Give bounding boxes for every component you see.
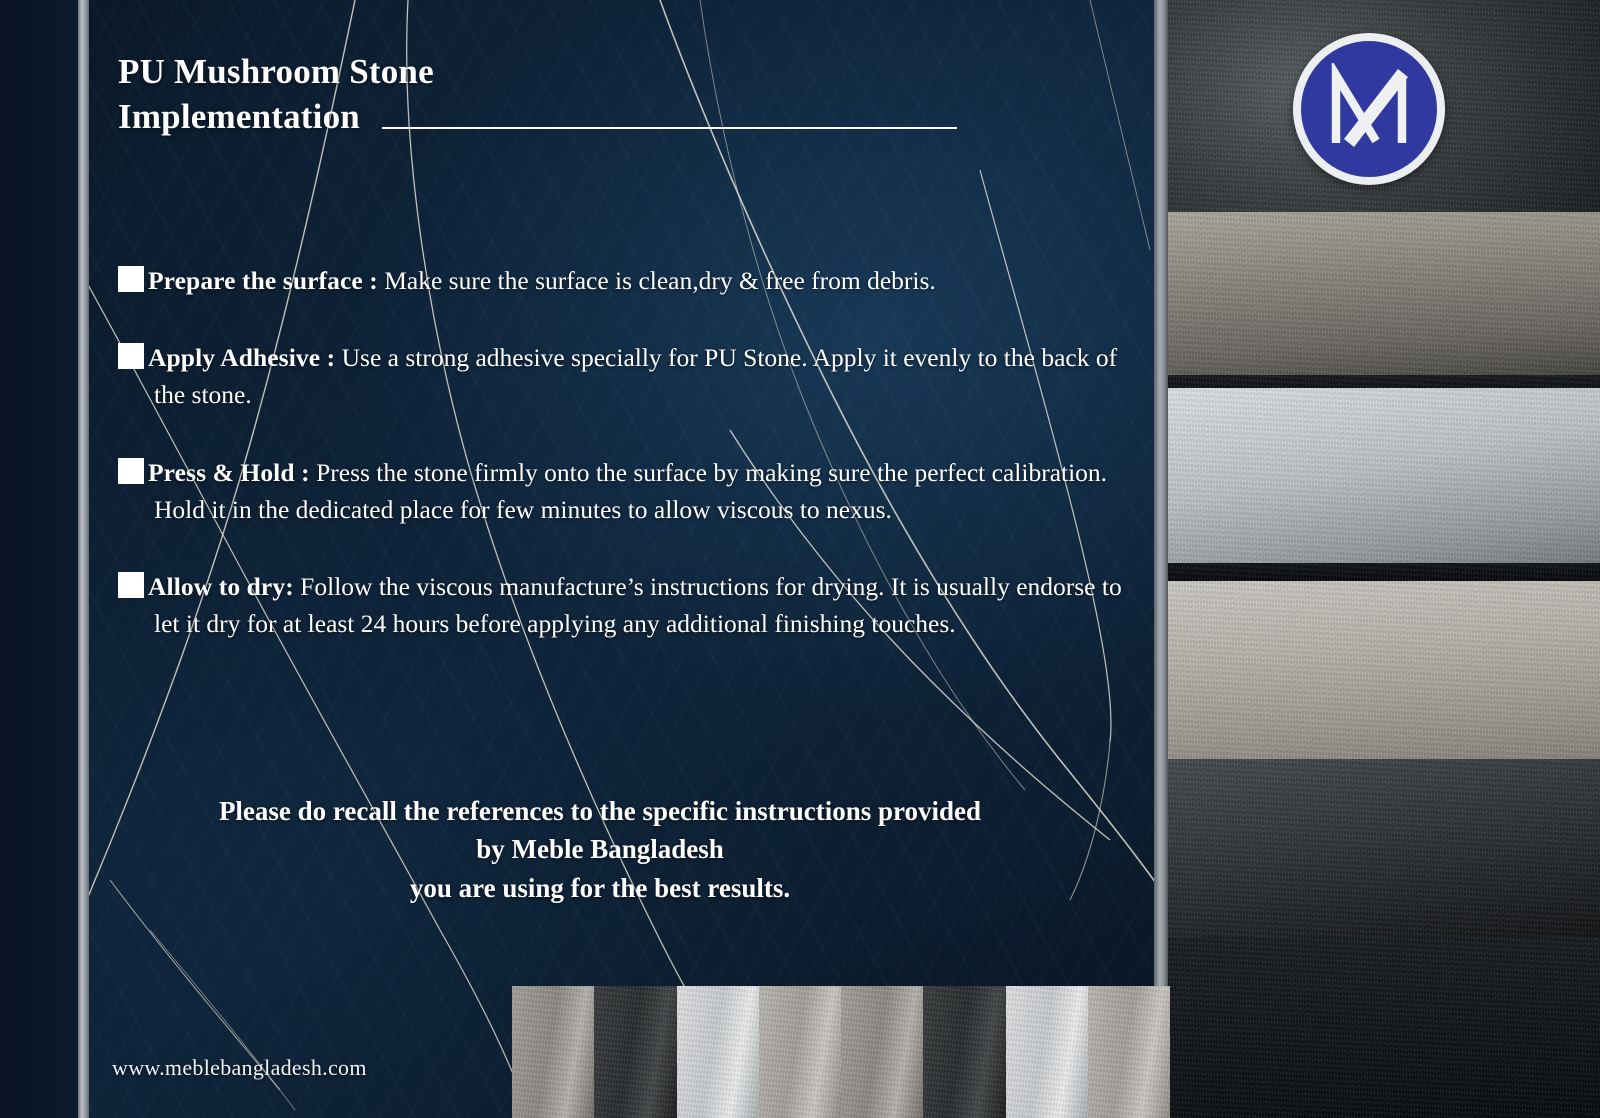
- sample-tile: [677, 986, 759, 1118]
- texture-panel-cream-stone: [1168, 581, 1600, 759]
- sample-tile: [594, 986, 676, 1118]
- bullet-square-icon: [118, 266, 144, 292]
- step-body: Follow the viscous manufacture’s instruc…: [154, 572, 1122, 638]
- stone-sample-tile-strip: [512, 986, 1170, 1118]
- website-url[interactable]: www.meblebangladesh.com: [112, 1055, 367, 1081]
- sample-tile: [1088, 986, 1170, 1118]
- title-line-2-row: Implementation: [118, 95, 1058, 140]
- brand-logo-icon[interactable]: [1293, 33, 1445, 185]
- sample-tile: [923, 986, 1005, 1118]
- title-line-1: PU Mushroom Stone: [118, 50, 1058, 95]
- title-underline-rule: [382, 127, 957, 129]
- texture-panel-charcoal-stone: [1168, 759, 1600, 937]
- list-item: Apply Adhesive : Use a strong adhesive s…: [118, 339, 1138, 413]
- texture-panel-white-stone: [1168, 388, 1600, 563]
- sample-tile: [841, 986, 923, 1118]
- list-item: Prepare the surface : Make sure the surf…: [118, 262, 1138, 299]
- bullet-square-icon: [118, 343, 144, 369]
- right-silver-divider: [1154, 0, 1168, 1118]
- texture-panel-black-slate: [1168, 937, 1600, 1118]
- bullet-square-icon: [118, 572, 144, 598]
- step-body: Make sure the surface is clean,dry & fre…: [378, 266, 936, 295]
- instruction-steps-list: Prepare the surface : Make sure the surf…: [118, 262, 1138, 643]
- title-line-2: Implementation: [118, 95, 360, 140]
- step-heading: Allow to dry:: [148, 572, 294, 601]
- bullet-square-icon: [118, 458, 144, 484]
- m-monogram-icon: [1320, 63, 1418, 155]
- left-silver-divider: [78, 0, 89, 1118]
- closing-line-1: Please do recall the references to the s…: [110, 792, 1090, 830]
- closing-line-3: you are using for the best results.: [110, 869, 1090, 907]
- list-item: Allow to dry: Follow the viscous manufac…: [118, 568, 1138, 642]
- step-heading: Prepare the surface :: [148, 266, 378, 295]
- sample-tile: [512, 986, 594, 1118]
- texture-panel-beige-stone: [1168, 212, 1600, 375]
- texture-gap-dark-2: [1168, 563, 1600, 583]
- page-title: PU Mushroom Stone Implementation: [118, 50, 1058, 140]
- step-heading: Apply Adhesive :: [148, 343, 335, 372]
- sample-tile: [1006, 986, 1088, 1118]
- poster-canvas: PU Mushroom Stone Implementation Prepare…: [0, 0, 1600, 1118]
- left-dark-edge: [0, 0, 86, 1118]
- list-item: Press & Hold : Press the stone firmly on…: [118, 454, 1138, 528]
- closing-line-2: by Meble Bangladesh: [110, 830, 1090, 868]
- sample-tile: [759, 986, 841, 1118]
- closing-note: Please do recall the references to the s…: [110, 792, 1090, 907]
- step-heading: Press & Hold :: [148, 458, 310, 487]
